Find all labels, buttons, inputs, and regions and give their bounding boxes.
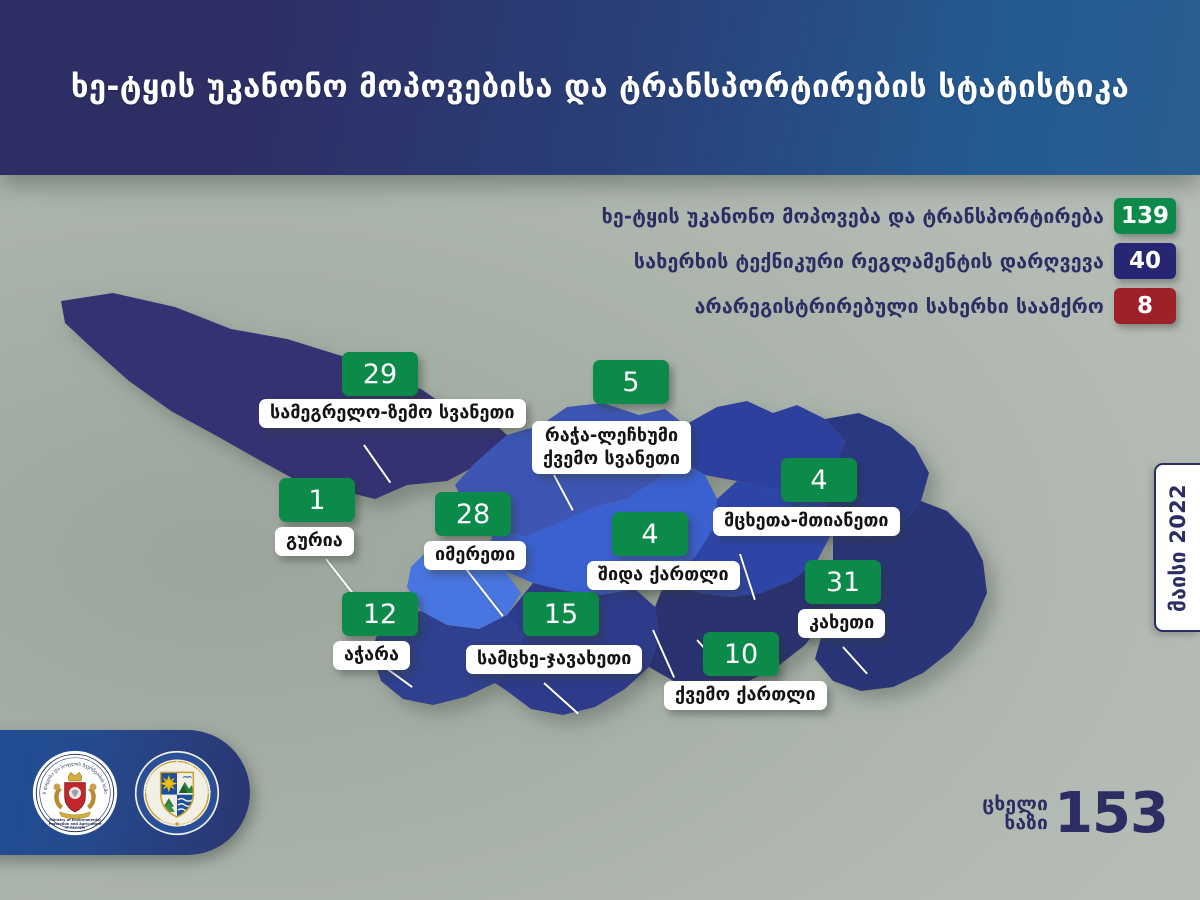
- value-chip-samegrelo: 29: [342, 352, 418, 396]
- region-name-chip: კახეთი: [798, 609, 885, 638]
- region-name-chip: შიდა ქართლი: [587, 561, 740, 590]
- value-chip-shida: 4: [612, 512, 688, 556]
- label-racha: რაჭა-ლეჩხუმი ქვემო სვანეთი: [532, 421, 691, 474]
- region-name-chip: გურია: [275, 527, 354, 556]
- infographic-root: ხე-ტყის უკანონო მოპოვებისა და ტრანსპორტი…: [0, 0, 1200, 900]
- label-shida: შიდა ქართლი: [587, 561, 740, 590]
- value-chip-kvemo: 10: [703, 632, 779, 676]
- value-chip-guria: 1: [279, 478, 355, 522]
- department-emblem-icon: გარემოსდაცვითი ზედამხედველობის დეპარტამე…: [134, 750, 220, 836]
- region-name-line2: ქვემო სვანეთი: [543, 448, 680, 471]
- marker-samtskhe: 15: [523, 592, 599, 636]
- marker-imereti: 28: [435, 492, 511, 536]
- value-chip-imereti: 28: [435, 492, 511, 536]
- page-title: ხე-ტყის უკანონო მოპოვებისა და ტრანსპორტი…: [71, 72, 1129, 103]
- region-name-chip: რაჭა-ლეჩხუმი ქვემო სვანეთი: [532, 421, 691, 474]
- marker-mtskheta: 4: [781, 458, 857, 502]
- label-samegrelo: სამეგრელო-ზემო სვანეთი: [259, 399, 526, 428]
- hotline-line2: ხაზი: [982, 814, 1048, 833]
- region-name-chip: იმერეთი: [424, 541, 526, 570]
- region-name-chip: ქვემო ქართლი: [664, 681, 827, 710]
- label-guria: გურია: [275, 527, 354, 556]
- value-chip-adjara: 12: [342, 592, 418, 636]
- marker-adjara: 12: [342, 592, 418, 636]
- hotline-number: 153: [1054, 788, 1168, 840]
- legend-item-sawmill-regulation-violation: სახერხის ტექნიკური რეგლამენტის დარღვევა …: [634, 243, 1176, 279]
- label-imereti: იმერეთი: [424, 541, 526, 570]
- value-chip-mtskheta: 4: [781, 458, 857, 502]
- label-mtskheta: მცხეთა-მთიანეთი: [713, 507, 900, 536]
- legend-label: სახერხის ტექნიკური რეგლამენტის დარღვევა: [634, 250, 1104, 273]
- label-kakheti: კახეთი: [798, 609, 885, 638]
- marker-guria: 1: [279, 478, 355, 522]
- value-chip-racha: 5: [593, 360, 669, 404]
- marker-samegrelo: 29: [342, 352, 418, 396]
- value-chip-samtskhe: 15: [523, 592, 599, 636]
- logos-pill: გარემოს დაცვისა და სოფლის მეურნეობის სამ…: [0, 730, 250, 855]
- legend-badge-green: 139: [1114, 198, 1176, 234]
- header-banner: ხე-ტყის უკანონო მოპოვებისა და ტრანსპორტი…: [0, 0, 1200, 175]
- region-name-chip: სამეგრელო-ზემო სვანეთი: [259, 399, 526, 428]
- month-tab: მაისი 2022: [1154, 463, 1200, 632]
- region-abkhazia: [61, 293, 507, 499]
- label-adjara: აჭარა: [333, 641, 410, 670]
- month-tab-label: მაისი 2022: [1166, 484, 1190, 612]
- legend-badge-navy: 40: [1114, 243, 1176, 279]
- region-name-chip: მცხეთა-მთიანეთი: [713, 507, 900, 536]
- region-name-chip: აჭარა: [333, 641, 410, 670]
- legend-label: ხე-ტყის უკანონო მოპოვება და ტრანსპორტირე…: [602, 205, 1104, 228]
- legend-badge-red: 8: [1114, 288, 1176, 324]
- label-kvemo: ქვემო ქართლი: [664, 681, 827, 710]
- region-name-line1: რაჭა-ლეჩხუმი: [543, 425, 680, 448]
- svg-text:of Georgia: of Georgia: [65, 825, 86, 829]
- hotline-words: ცხელი ხაზი: [982, 795, 1048, 834]
- hotline: ცხელი ხაზი 153: [982, 788, 1168, 840]
- marker-racha: 5: [593, 360, 669, 404]
- marker-kvemo: 10: [703, 632, 779, 676]
- label-samtskhe: სამცხე-ჯავახეთი: [466, 645, 642, 674]
- legend-item-unregistered-sawmill: არარეგისტრირებული სახერხი საამქრო 8: [695, 288, 1176, 324]
- legend: ხე-ტყის უკანონო მოპოვება და ტრანსპორტირე…: [602, 198, 1176, 324]
- region-name-chip: სამცხე-ჯავახეთი: [466, 645, 642, 674]
- marker-shida: 4: [612, 512, 688, 556]
- marker-kakheti: 31: [805, 560, 881, 604]
- legend-label: არარეგისტრირებული სახერხი საამქრო: [695, 295, 1104, 318]
- legend-item-illegal-logging-transport: ხე-ტყის უკანონო მოპოვება და ტრანსპორტირე…: [602, 198, 1176, 234]
- ministry-emblem-icon: გარემოს დაცვისა და სოფლის მეურნეობის სამ…: [32, 750, 118, 836]
- value-chip-kakheti: 31: [805, 560, 881, 604]
